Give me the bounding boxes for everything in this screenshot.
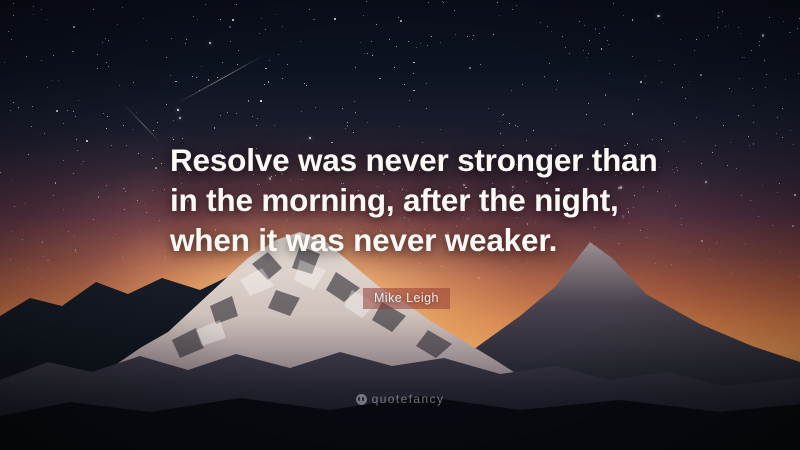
quote-text: Resolve was never stronger than in the m… bbox=[170, 140, 790, 260]
watermark: quotefancy bbox=[0, 392, 800, 406]
quote-author: Mike Leigh bbox=[363, 288, 450, 309]
quote-poster: Resolve was never stronger than in the m… bbox=[0, 0, 800, 450]
quote-badge-icon bbox=[356, 394, 367, 405]
watermark-brand: quotefancy bbox=[372, 392, 445, 406]
quote-line-2: in the morning, after the night, bbox=[170, 180, 790, 220]
quote-line-3: when it was never weaker. bbox=[170, 220, 790, 260]
quote-line-1: Resolve was never stronger than bbox=[170, 140, 790, 180]
